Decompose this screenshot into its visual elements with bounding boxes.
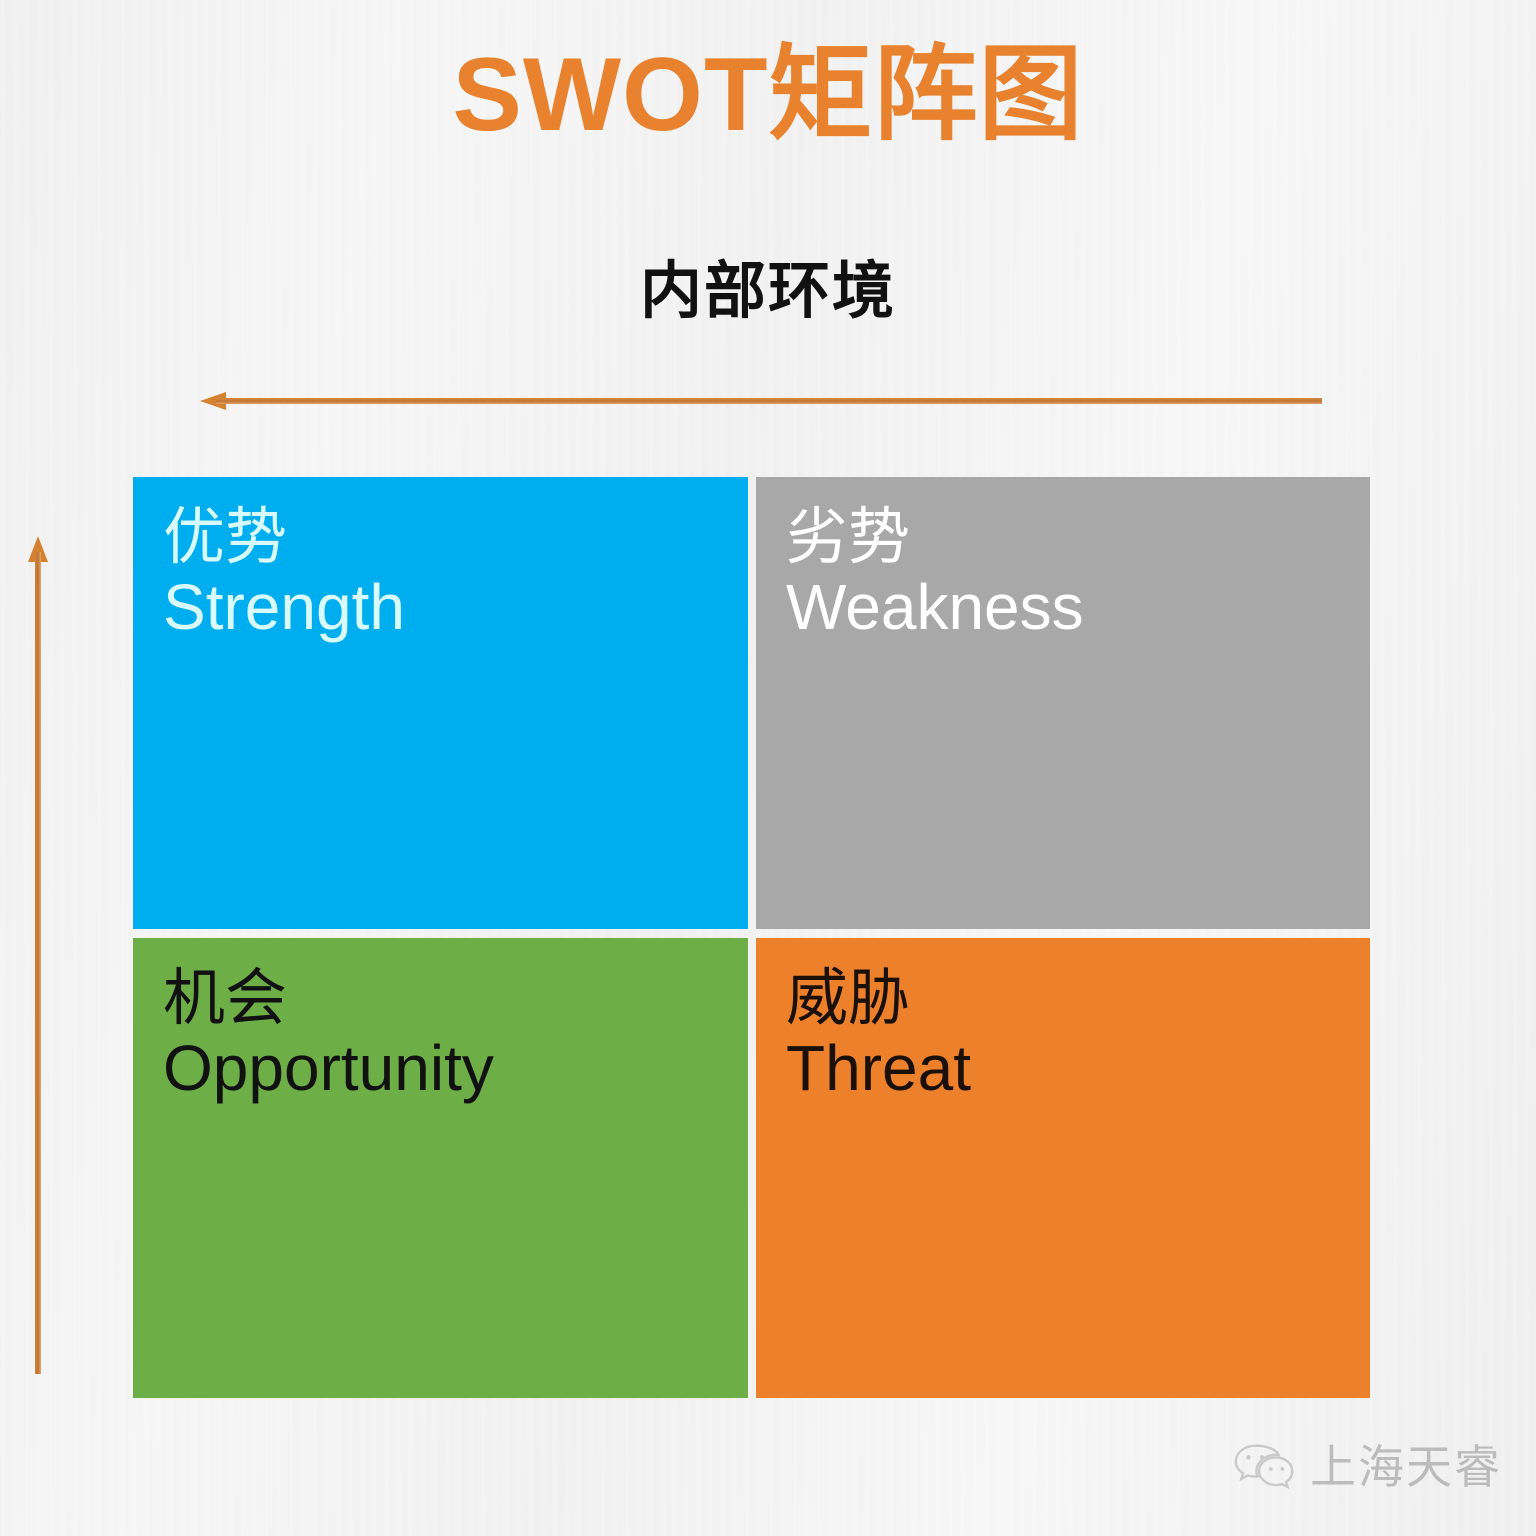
quadrant-weakness-en-label: Weakness — [786, 572, 1350, 644]
quadrant-strength-en-label: Strength — [163, 572, 728, 644]
quadrant-strength[interactable]: 优势 Strength — [133, 477, 748, 929]
wechat-icon — [1232, 1439, 1294, 1495]
arrow-left-shaft — [216, 398, 1322, 404]
quadrant-threat[interactable]: 威胁 Threat — [756, 938, 1370, 1398]
page-title: SWOT矩阵图 — [0, 38, 1536, 152]
quadrant-opportunity-cn-label: 机会 — [163, 966, 728, 1033]
swot-matrix: 优势 Strength 劣势 Weakness 机会 Opportunity 威… — [133, 477, 1370, 1398]
arrow-left-icon — [200, 392, 1322, 410]
horizontal-axis-caption: 内部环境 — [0, 258, 1536, 326]
quadrant-strength-cn-label: 优势 — [163, 505, 728, 572]
arrow-up-icon — [28, 536, 48, 1374]
quadrant-opportunity[interactable]: 机会 Opportunity — [133, 938, 748, 1398]
arrow-up-shaft — [35, 552, 41, 1374]
quadrant-opportunity-en-label: Opportunity — [163, 1033, 728, 1105]
quadrant-threat-cn-label: 威胁 — [786, 966, 1350, 1033]
quadrant-weakness[interactable]: 劣势 Weakness — [756, 477, 1370, 929]
quadrant-weakness-cn-label: 劣势 — [786, 505, 1350, 572]
swot-diagram: SWOT矩阵图 内部环境 优势 Strength 劣势 Weakness 机会 … — [0, 0, 1536, 1536]
watermark-text: 上海天睿 — [1310, 1444, 1502, 1490]
watermark: 上海天睿 — [1232, 1424, 1536, 1510]
quadrant-threat-en-label: Threat — [786, 1033, 1350, 1105]
